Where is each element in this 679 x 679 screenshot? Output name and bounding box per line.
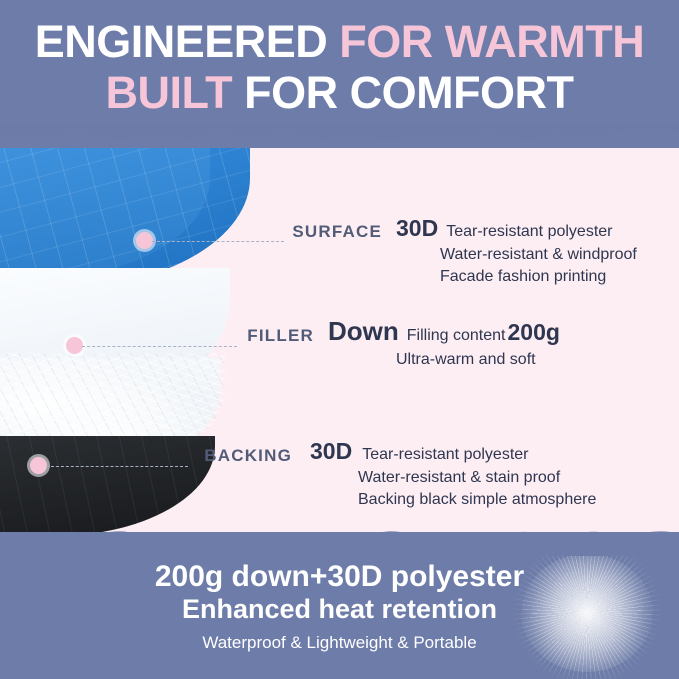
callout-dot-backing	[30, 457, 47, 474]
headline-line-2-part-1: BUILT	[105, 67, 244, 118]
callout-spec-backing-3: Backing black simple atmosphere	[358, 489, 596, 511]
callout-spec-surface-2: Water-resistant & windproof	[440, 244, 637, 266]
callout-spec-filler-prefix: Filling content	[407, 325, 506, 347]
callout-label-filler: FILLER	[118, 326, 314, 346]
header-text-block: ENGINEERED FOR WARMTH BUILT FOR COMFORT	[0, 0, 679, 117]
headline-line-1-part-2: FOR WARMTH	[339, 16, 644, 67]
footer-torn-edge-icon	[0, 522, 679, 556]
callout-spec-filler-2: Ultra-warm and soft	[396, 349, 560, 371]
footer-text-block: 200g down+30D polyester Enhanced heat re…	[0, 560, 679, 653]
callout-value-filler: Down	[328, 316, 399, 347]
headline-line-1-part-1: ENGINEERED	[35, 16, 340, 67]
quilting-stitch-pattern	[0, 148, 250, 288]
footer-line-2: Enhanced heat retention	[0, 594, 679, 625]
callout-spec-backing-1: Tear-resistant polyester	[362, 444, 528, 466]
callout-value-filler-weight: 200g	[507, 319, 559, 346]
callout-label-surface: SURFACE	[186, 222, 382, 242]
footer-line-3: Waterproof & Lightweight & Portable	[0, 633, 679, 653]
callout-spec-surface-3: Facade fashion printing	[440, 266, 637, 288]
callout-value-backing: 30D	[310, 438, 352, 465]
headline-line-2: BUILT FOR COMFORT	[0, 69, 679, 118]
callout-dot-filler	[66, 337, 83, 354]
callout-label-backing: BACKING	[96, 446, 292, 466]
callout-leader-filler	[82, 346, 237, 347]
callout-value-surface: 30D	[396, 215, 438, 242]
callout-spec-backing-2: Water-resistant & stain proof	[358, 467, 596, 489]
callout-dot-surface	[136, 232, 153, 249]
callout-leader-backing	[46, 466, 188, 467]
headline-line-1: ENGINEERED FOR WARMTH	[0, 18, 679, 67]
product-infographic: ENGINEERED FOR WARMTH BUILT FOR COMFORT …	[0, 0, 679, 679]
callout-spec-surface-1: Tear-resistant polyester	[446, 221, 612, 243]
footer-line-1: 200g down+30D polyester	[0, 560, 679, 594]
headline-line-2-part-2: FOR COMFORT	[244, 67, 573, 118]
